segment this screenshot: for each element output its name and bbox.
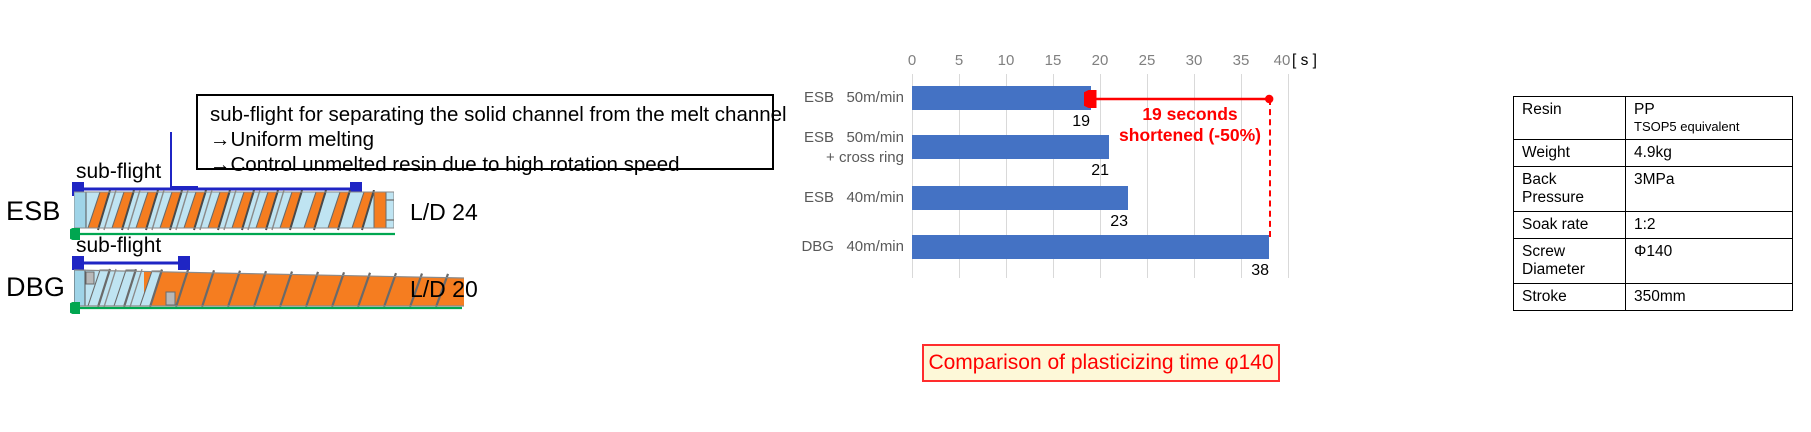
xtick-20: 20 (1092, 52, 1109, 69)
category-label-2: ESB 40m/min (800, 189, 904, 206)
category-0-name: ESB (804, 89, 834, 106)
table-row: Stroke 350mm (1514, 284, 1793, 311)
dbg-row-label: DBG (6, 272, 65, 303)
spec-value-resin-main: PP (1634, 101, 1655, 118)
esb-screw-graphic (74, 190, 394, 232)
spec-value-soak-rate: 1:2 (1626, 212, 1793, 239)
spec-key-soak-rate: Soak rate (1514, 212, 1626, 239)
screw-diagram-panel: sub-flight for separating the solid chan… (0, 0, 800, 432)
spec-key-back-pressure-line2: Pressure (1522, 189, 1617, 207)
category-label-0: ESB 50m/min (800, 89, 904, 106)
callout-line-2: →Uniform melting (210, 127, 762, 152)
bar-value-esb-50: 19 (1048, 113, 1090, 131)
shortened-annotation-line2: shortened (-50%) (1100, 125, 1280, 146)
spec-value-weight: 4.9kg (1626, 140, 1793, 167)
category-1-speed: 50m/min (846, 129, 904, 146)
xtick-15: 15 (1045, 52, 1062, 69)
shortened-annotation-line1: 19 seconds (1100, 104, 1280, 125)
specification-panel: Resin PP TSOP5 equivalent Weight 4.9kg B… (1500, 0, 1811, 432)
bar-value-dbg-40: 38 (1227, 262, 1269, 280)
spec-key-stroke: Stroke (1514, 284, 1626, 311)
spec-value-screw-diameter: Φ140 (1626, 239, 1793, 284)
spec-key-screw-diameter: Screw Diameter (1514, 239, 1626, 284)
shortened-annotation: 19 seconds shortened (-50%) (1100, 104, 1280, 146)
table-row: Screw Diameter Φ140 (1514, 239, 1793, 284)
category-1-name: ESB (804, 129, 834, 146)
spec-value-resin: PP TSOP5 equivalent (1626, 97, 1793, 140)
table-row: Soak rate 1:2 (1514, 212, 1793, 239)
category-1-line1: ESB 50m/min (800, 128, 904, 148)
category-3-speed: 40m/min (846, 238, 904, 255)
category-2-name: ESB (804, 189, 834, 206)
bar-esb-40 (912, 186, 1128, 210)
callout-line-1: sub-flight for separating the solid chan… (210, 102, 762, 127)
xtick-35: 35 (1233, 52, 1250, 69)
bar-value-esb-50-cross-ring: 21 (1067, 162, 1109, 180)
gridline-40 (1288, 74, 1289, 278)
callout-box: sub-flight for separating the solid chan… (196, 94, 774, 170)
table-row: Back Pressure 3MPa (1514, 167, 1793, 212)
table-row: Resin PP TSOP5 equivalent (1514, 97, 1793, 140)
callout-line-3: →Control unmelted resin due to high rota… (210, 152, 762, 177)
bar-esb-50 (912, 86, 1091, 110)
plasticizing-time-chart: 0 5 10 15 20 25 30 35 40 [ s ] ESB 50m/m… (800, 0, 1500, 432)
spec-key-screw-diameter-line1: Screw (1522, 243, 1617, 261)
spec-key-back-pressure: Back Pressure (1514, 167, 1626, 212)
spec-value-back-pressure: 3MPa (1626, 167, 1793, 212)
category-2-speed: 40m/min (846, 189, 904, 206)
category-label-3: DBG 40m/min (800, 238, 904, 255)
category-label-1: ESB 50m/min + cross ring (800, 128, 904, 168)
esb-subflight-label: sub-flight (76, 160, 161, 184)
x-axis-unit-label: [ s ] (1292, 52, 1317, 70)
esb-ld-label: L/D 24 (410, 199, 478, 226)
category-0-speed: 50m/min (846, 89, 904, 106)
table-row: Weight 4.9kg (1514, 140, 1793, 167)
spec-key-resin: Resin (1514, 97, 1626, 140)
esb-row-label: ESB (6, 196, 61, 227)
bar-esb-50-cross-ring (912, 135, 1109, 159)
bar-value-esb-40: 23 (1086, 213, 1128, 231)
xtick-30: 30 (1186, 52, 1203, 69)
spec-key-back-pressure-line1: Back (1522, 171, 1617, 189)
xtick-25: 25 (1139, 52, 1156, 69)
category-3-name: DBG (801, 238, 834, 255)
category-1-line2: + cross ring (800, 148, 904, 168)
xtick-5: 5 (955, 52, 963, 69)
spec-key-screw-diameter-line2: Diameter (1522, 261, 1617, 279)
xtick-40: 40 (1274, 52, 1291, 69)
bar-dbg-40 (912, 235, 1269, 259)
spec-table: Resin PP TSOP5 equivalent Weight 4.9kg B… (1513, 96, 1793, 311)
spec-value-resin-sub: TSOP5 equivalent (1634, 119, 1784, 135)
xtick-0: 0 (908, 52, 916, 69)
xtick-10: 10 (998, 52, 1015, 69)
callout-connector-vertical (170, 132, 172, 188)
dbg-length-arrow (70, 302, 462, 314)
dbg-ld-label: L/D 20 (410, 276, 478, 303)
spec-key-weight: Weight (1514, 140, 1626, 167)
chart-title-box: Comparison of plasticizing time φ140 (922, 344, 1280, 382)
spec-value-stroke: 350mm (1626, 284, 1793, 311)
dbg-subflight-label: sub-flight (76, 234, 161, 258)
